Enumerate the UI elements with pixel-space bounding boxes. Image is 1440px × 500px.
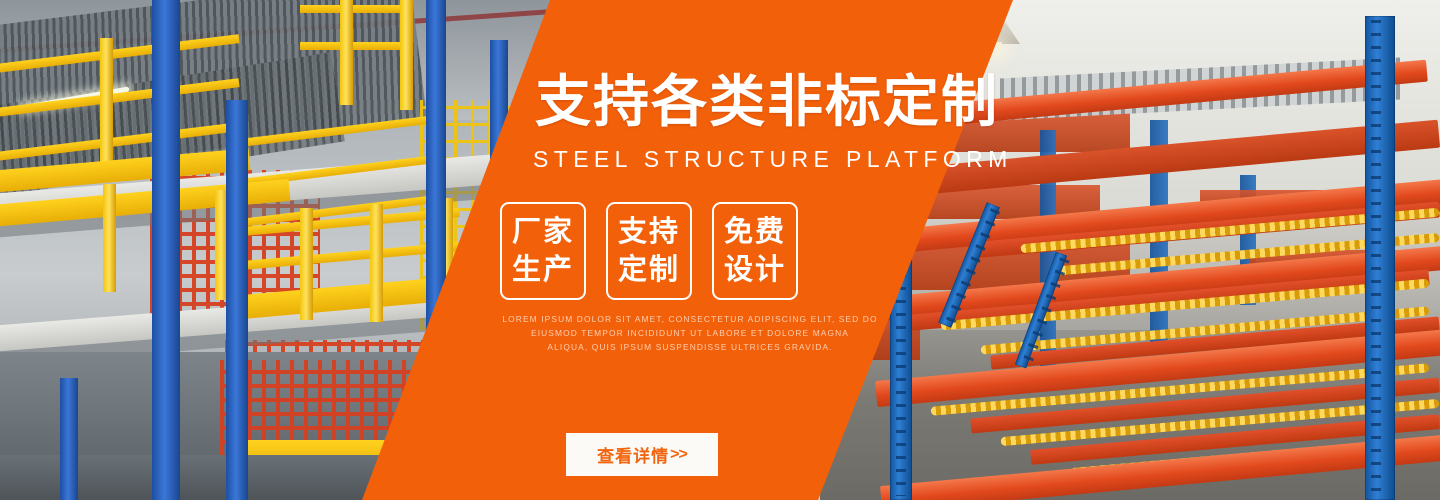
feature-tag-custom[interactable]: 支持 定制 bbox=[606, 202, 692, 300]
tag-line-2: 生产 bbox=[512, 251, 574, 289]
feature-tag-free-design[interactable]: 免费 设计 bbox=[712, 202, 798, 300]
description-line: ALIQUA, QUIS IPSUM SUSPENDISSE ULTRICES … bbox=[490, 340, 890, 354]
tag-line-1: 免费 bbox=[724, 213, 786, 251]
view-details-button[interactable]: 查看详情 >> bbox=[566, 433, 718, 476]
tag-line-1: 厂家 bbox=[512, 213, 574, 251]
chevron-right-double-icon: >> bbox=[670, 446, 687, 464]
page-title: 支持各类非标定制 bbox=[535, 74, 999, 130]
description-line: EIUSMOD TEMPOR INCIDIDUNT UT LABORE ET D… bbox=[490, 326, 890, 340]
feature-tag-group: 厂家 生产 支持 定制 免费 设计 bbox=[500, 202, 798, 300]
description-line: LOREM IPSUM DOLOR SIT AMET, CONSECTETUR … bbox=[490, 312, 890, 326]
page-subtitle: STEEL STRUCTURE PLATFORM bbox=[533, 146, 1013, 173]
tag-line-2: 设计 bbox=[724, 251, 786, 289]
promo-banner: 支持各类非标定制 STEEL STRUCTURE PLATFORM 厂家 生产 … bbox=[0, 0, 1440, 500]
feature-tag-manufacturer[interactable]: 厂家 生产 bbox=[500, 202, 586, 300]
cta-label: 查看详情 bbox=[597, 442, 669, 467]
description-text: LOREM IPSUM DOLOR SIT AMET, CONSECTETUR … bbox=[490, 312, 890, 354]
banner-content: 支持各类非标定制 STEEL STRUCTURE PLATFORM 厂家 生产 … bbox=[0, 0, 1440, 500]
tag-line-1: 支持 bbox=[618, 213, 680, 251]
tag-line-2: 定制 bbox=[618, 251, 680, 289]
